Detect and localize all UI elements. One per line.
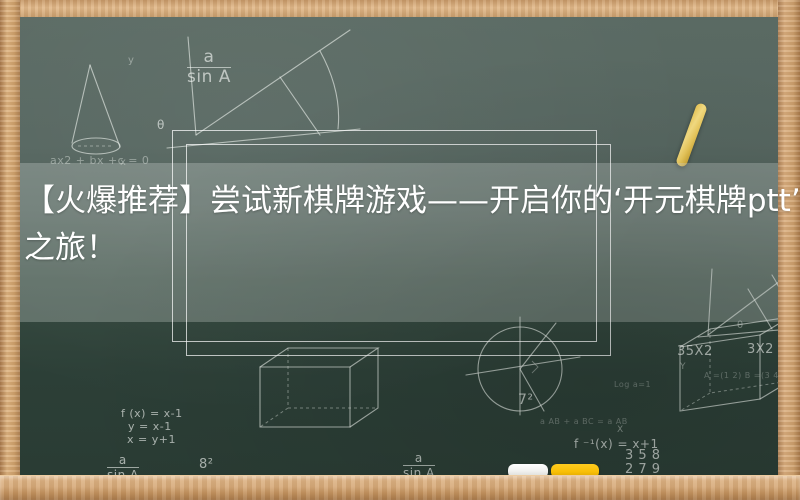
chalk-fraction-a-sina-1: a sin A — [107, 454, 139, 476]
chalk-axis-y-right: Y — [680, 362, 686, 372]
chalk-formula-fx: f (x) = x-1 — [121, 407, 183, 420]
chalk-log-label: Log a=1 — [614, 380, 651, 389]
chalk-axis-x-left: x — [120, 157, 126, 168]
chalk-label-35x2: 35X2 — [677, 344, 713, 359]
title-line-2: 之旅！ — [24, 225, 778, 272]
chalkboard-banner: a sin A ax2 + bx +c = 0 y x θ f (x) = x-… — [0, 0, 800, 500]
chalk-axis-y-left: y — [128, 55, 134, 66]
chalk-matrix-row-1: 3 5 8 — [625, 449, 661, 463]
chalk-angle-theta-left: θ — [157, 118, 165, 132]
chalk-power-eight: 8² — [199, 457, 213, 472]
chalk-power-seven: 7² — [518, 392, 534, 408]
chalk-angle-theta-right: θ — [737, 320, 744, 331]
title-line-1: 【火爆推荐】尝试新棋牌游戏——开启你的‘开元棋牌ptt’ — [24, 178, 778, 225]
chalk-label-3x2: 3X2 — [747, 342, 774, 357]
chalk-formula-quadratic: ax2 + bx +c = 0 — [50, 154, 149, 167]
gold-chalk-stick-icon — [675, 102, 708, 168]
chalk-formula-y-eq: y = x-1 — [128, 420, 172, 433]
wood-frame-bottom-tray — [0, 476, 800, 500]
chalk-matrix-expression: A =(1 2) B =(3 4) I =(1 0) — [704, 371, 778, 380]
chalk-fraction-a-sina-2: a sin A — [403, 452, 435, 476]
wood-frame-top — [0, 0, 800, 17]
chalk-inverse-function: f ⁻¹(x) = x+1 — [574, 437, 659, 451]
chalk-misc-expression: a AB + a BC = a AB — [540, 417, 628, 426]
chalk-axis-x-right: X — [617, 425, 624, 435]
title-block: 【火爆推荐】尝试新棋牌游戏——开启你的‘开元棋牌ptt’ 之旅！ — [0, 178, 800, 272]
chalk-formula-x-eq: x = y+1 — [127, 433, 176, 446]
chalk-formula-a-over-sina: a sin A — [187, 49, 231, 87]
